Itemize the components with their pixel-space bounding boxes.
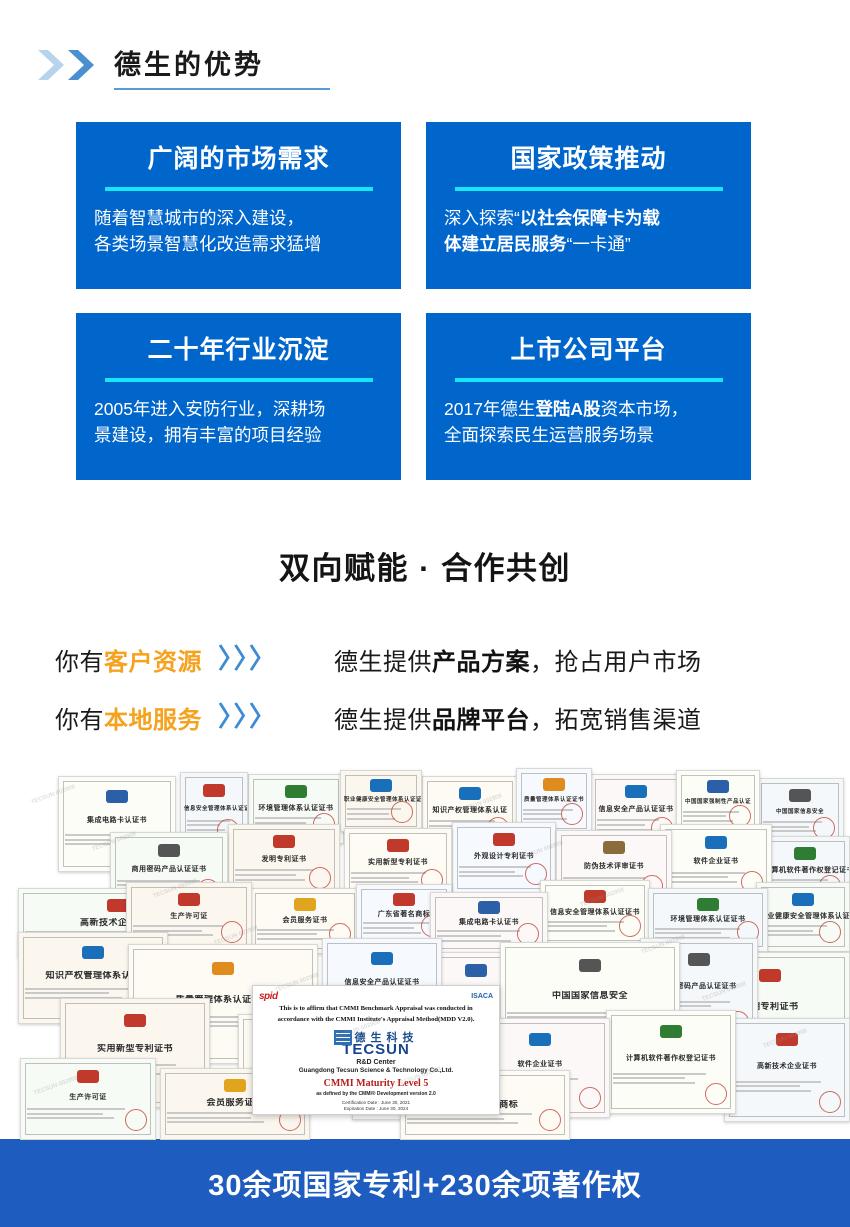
certificate-emblem-icon [77, 1070, 99, 1083]
certificate-label: 职业健康安全管理体系认证证书 [757, 912, 849, 921]
certificate-emblem-icon [529, 1033, 551, 1046]
value-row: 你有客户资源 〉〉〉 德生提供产品方案，抢占用户市场 [0, 630, 850, 688]
bottom-banner-text: 30余项国家专利+230余项著作权 [208, 1162, 642, 1204]
certificate-emblem-icon [794, 847, 816, 860]
certificate-emblem-icon [625, 785, 647, 798]
certificate-label: 中国国家信息安全 [757, 808, 843, 817]
certificate-emblem-icon [660, 1025, 682, 1038]
chevron-right-dark-icon [66, 48, 96, 82]
card-desc-line: 全面探索民生运营服务场景 [444, 422, 733, 448]
section-header: 德生的优势 [0, 34, 850, 96]
certificate-emblem-icon [579, 959, 601, 972]
page-title-wrap: 德生的优势 [114, 48, 264, 82]
certificate-emblem-icon [707, 780, 729, 793]
certificate-emblem-icon [584, 890, 606, 903]
certificate-emblem-icon [459, 787, 481, 800]
value-row-right: 德生提供产品方案，抢占用户市场 [334, 642, 702, 677]
certificate-seal-icon [819, 1091, 841, 1113]
certificate-seal-icon [705, 1083, 727, 1105]
card-divider [105, 187, 373, 191]
cmmi-affirm-line1: This is to affirm that CMMI Benchmark Ap… [259, 1004, 493, 1013]
certificate-seal-icon [391, 801, 413, 823]
certificate-label: 知识产权管理体系认证 [423, 806, 517, 815]
card-description: 2017年德生登陆A股资本市场， 全面探索民生运营服务场景 [444, 396, 733, 448]
certificate-emblem-icon [393, 893, 415, 906]
certificate-emblem-icon [759, 969, 781, 982]
certificate-emblem-icon [158, 844, 180, 857]
certificate-label: 中国国家信息安全 [501, 991, 679, 1000]
certificate-emblem-icon [273, 835, 295, 848]
cmmi-unit: R&D Center [259, 1059, 493, 1066]
value-right-prefix: 德生提供 [334, 649, 432, 676]
value-row: 你有本地服务 〉〉〉 德生提供品牌平台，拓宽销售渠道 [0, 688, 850, 746]
spid-logo: spid [259, 991, 278, 1002]
certificate-emblem-icon [294, 898, 316, 911]
certificate-label: 生产许可证 [21, 1093, 155, 1102]
cmmi-header: spid ISACA [259, 991, 493, 1002]
certificate-item: 高新技术企业证书 [724, 1018, 850, 1122]
value-right-suffix: ，拓宽销售渠道 [530, 707, 702, 734]
value-right-prefix: 德生提供 [334, 707, 432, 734]
card-description: 随着智慧城市的深入建设， 各类场景智慧化改造需求猛增 [94, 205, 383, 257]
certificate-label: 中国国家强制性产品认证 [677, 798, 759, 807]
cmmi-affirm-line2: accordance with the CMMI Institute's App… [259, 1015, 493, 1024]
certificate-emblem-icon [603, 841, 625, 854]
value-left-highlight: 本地服务 [104, 707, 202, 734]
value-left-highlight: 客户资源 [104, 649, 202, 676]
value-row-left: 你有客户资源 [55, 642, 202, 677]
card-desc-plain: 深入探索“ [444, 208, 520, 228]
certificate-emblem-icon [493, 833, 515, 846]
certificate-label: 质量管理体系认证证书 [517, 796, 591, 805]
certificate-emblem-icon [776, 1033, 798, 1046]
card-desc-line: 景建设，拥有丰富的项目经验 [94, 422, 383, 448]
certificate-emblem-icon [697, 898, 719, 911]
certificate-item: 信息安全管理体系认证证书 [540, 880, 650, 946]
advantage-card-listed-company: 上市公司平台 2017年德生登陆A股资本市场， 全面探索民生运营服务场景 [426, 313, 751, 480]
chevron-right-light-icon [36, 48, 66, 82]
section-heading-cooperation: 双向赋能 · 合作共创 [0, 543, 850, 588]
card-desc-line: 各类场景智慧化改造需求猛增 [94, 231, 383, 257]
certificate-seal-icon [309, 867, 331, 889]
certificate-item: 职业健康安全管理体系认证证书 [340, 770, 422, 832]
certificate-emblem-icon [789, 789, 811, 802]
certificate-seal-icon [819, 921, 841, 943]
certificate-seal-icon [125, 1109, 147, 1131]
certificate-emblem-icon [688, 953, 710, 966]
certificate-seal-icon [579, 1087, 601, 1109]
certificate-label: 信息安全产品认证证书 [591, 805, 681, 814]
certificate-emblem-icon [178, 893, 200, 906]
page-title: 德生的优势 [114, 48, 264, 82]
page-root: 德生的优势 广阔的市场需求 随着智慧城市的深入建设， 各类场景智慧化改造需求猛增… [0, 0, 850, 1227]
advantage-cards: 广阔的市场需求 随着智慧城市的深入建设， 各类场景智慧化改造需求猛增 国家政策推… [76, 122, 776, 480]
card-desc-plain: 2017年德生 [444, 399, 535, 419]
advantage-card-market-demand: 广阔的市场需求 随着智慧城市的深入建设， 各类场景智慧化改造需求猛增 [76, 122, 401, 289]
certificate-seal-icon [561, 803, 583, 825]
certificate-item: 职业健康安全管理体系认证证书 [756, 882, 850, 952]
certificate-emblem-icon [106, 790, 128, 803]
cmmi-company: Guangdong Tecsun Science & Technology Co… [259, 1067, 493, 1074]
card-description: 深入探索“以社会保障卡为载 体建立居民服务“一卡通” [444, 205, 733, 257]
cmmi-dates: Certification Date : June 30, 2021 Expir… [259, 1100, 493, 1112]
certificate-label: 发明专利证书 [229, 855, 339, 864]
chevron-group [36, 48, 96, 82]
card-desc-line: 2005年进入安防行业，深耕场 [94, 396, 383, 422]
card-desc-line: 体建立居民服务“一卡通” [444, 231, 733, 257]
certificate-emblem-icon [82, 946, 104, 959]
value-row-right: 德生提供品牌平台，拓宽销售渠道 [334, 700, 702, 735]
certificate-emblem-icon [371, 952, 393, 965]
certificate-label: 实用新型专利证书 [61, 1044, 209, 1053]
card-desc-line: 深入探索“以社会保障卡为载 [444, 205, 733, 231]
card-description: 2005年进入安防行业，深耕场 景建设，拥有丰富的项目经验 [94, 396, 383, 448]
triple-chevron-icon: 〉〉〉 [218, 646, 278, 673]
card-title: 上市公司平台 [510, 335, 666, 365]
value-right-bold: 品牌平台 [432, 707, 530, 734]
card-desc-tail: 资本市场， [601, 399, 689, 419]
isaca-logo: ISACA [471, 993, 493, 1000]
certificate-emblem-icon [705, 836, 727, 849]
certificate-emblem-icon [792, 893, 814, 906]
certificate-label: 信息安全管理体系认证证书 [181, 805, 247, 814]
card-desc-line: 随着智慧城市的深入建设， [94, 205, 383, 231]
certificate-emblem-icon [285, 785, 307, 798]
value-right-suffix: ，抢占用户市场 [530, 649, 702, 676]
certificate-label: 高新技术企业证书 [725, 1062, 849, 1071]
certificate-emblem-icon [543, 778, 565, 791]
certificate-item: 生产许可证 [20, 1058, 156, 1140]
card-desc-bold: 体建立居民服务 [444, 234, 567, 254]
certificate-emblem-icon [124, 1014, 146, 1027]
advantage-card-national-policy: 国家政策推动 深入探索“以社会保障卡为载 体建立居民服务“一卡通” [426, 122, 751, 289]
certificate-emblem-icon [465, 964, 487, 977]
card-divider [455, 187, 723, 191]
card-divider [455, 378, 723, 382]
tecsun-brand-en: TECSUN [259, 1041, 493, 1058]
value-row-left: 你有本地服务 [55, 700, 202, 735]
certificate-emblem-icon [370, 779, 392, 792]
card-title: 国家政策推动 [510, 144, 666, 174]
value-left-prefix: 你有 [55, 707, 104, 734]
certificate-emblem-icon [224, 1079, 246, 1092]
card-divider [105, 378, 373, 382]
certificate-label: 计算机软件著作权登记证书 [761, 866, 849, 875]
certificate-emblem-icon [478, 901, 500, 914]
certificate-label: 商用密码产品认证证书 [111, 865, 227, 874]
certificate-cmmi: spid ISACA This is to affirm that CMMI B… [252, 985, 500, 1115]
cmmi-maturity-level: CMMI Maturity Level 5 [259, 1078, 493, 1089]
card-desc-line: 2017年德生登陆A股资本市场， [444, 396, 733, 422]
certificate-label: 外观设计专利证书 [453, 852, 555, 861]
certificate-seal-icon [539, 1109, 561, 1131]
title-underline [114, 88, 330, 90]
value-left-prefix: 你有 [55, 649, 104, 676]
card-title: 二十年行业沉淀 [147, 335, 329, 365]
card-title: 广阔的市场需求 [147, 144, 329, 174]
certificate-label: 实用新型专利证书 [345, 858, 451, 867]
certificate-label: 环境管理体系认证证书 [249, 804, 343, 813]
certificate-label: 软件企业证书 [661, 857, 771, 866]
certificate-emblem-icon [212, 962, 234, 975]
cmmi-exp-date: Expiration Date : June 30, 2024 [259, 1106, 493, 1112]
card-desc-bold: 登陆A股 [535, 399, 600, 419]
card-desc-bold: 以社会保障卡为载 [520, 208, 660, 228]
certificate-label: 集成电路卡认证书 [59, 816, 175, 825]
cmmi-defined-by: as defined by the CMMI® Development vers… [259, 1091, 493, 1097]
certificate-label: 生产许可证 [127, 912, 251, 921]
certificate-seal-icon [221, 921, 243, 943]
bottom-banner: 30余项国家专利+230余项著作权 [0, 1139, 850, 1227]
triple-chevron-icon: 〉〉〉 [218, 704, 278, 731]
certificate-emblem-icon [387, 839, 409, 852]
certificate-emblem-icon [203, 784, 225, 797]
advantage-card-industry-experience: 二十年行业沉淀 2005年进入安防行业，深耕场 景建设，拥有丰富的项目经验 [76, 313, 401, 480]
certificate-seal-icon [619, 915, 641, 937]
certificate-label: 防伪技术评审证书 [557, 862, 671, 871]
value-right-bold: 产品方案 [432, 649, 530, 676]
certificate-label: 计算机软件著作权登记证书 [607, 1054, 735, 1063]
card-desc-plain: “一卡通” [567, 234, 631, 254]
certificate-item: 计算机软件著作权登记证书 [606, 1010, 736, 1114]
value-proposition-rows: 你有客户资源 〉〉〉 德生提供产品方案，抢占用户市场 你有本地服务 〉〉〉 德生… [0, 630, 850, 746]
tecsun-mark-icon [334, 1030, 352, 1045]
